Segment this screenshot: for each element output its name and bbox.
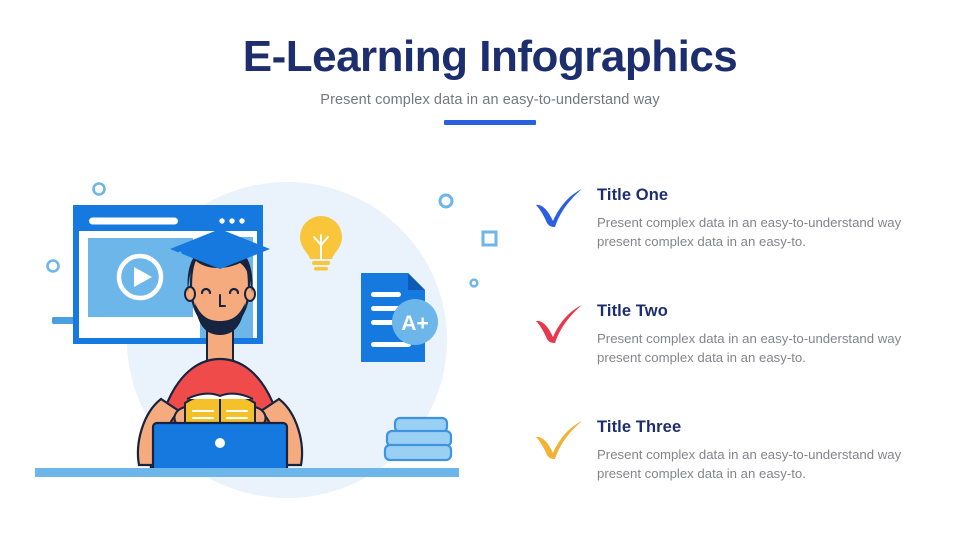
list-item[interactable]: Title Two Present complex data in an eas… [533,302,953,386]
list-item-title: Title Two [597,302,953,321]
desk-line [35,468,459,477]
list-item-description: Present complex data in an easy-to-under… [597,330,942,367]
decor-pill [52,317,74,324]
check-mark-icon [533,304,585,344]
list-item-title: Title Three [597,418,953,437]
list-item-description: Present complex data in an easy-to-under… [597,214,942,251]
list-item[interactable]: Title One Present complex data in an eas… [533,186,953,270]
list-item-description: Present complex data in an easy-to-under… [597,446,942,483]
page-subtitle: Present complex data in an easy-to-under… [0,92,980,108]
header: E-Learning Infographics Present complex … [0,34,980,125]
list-item[interactable]: Title Three Present complex data in an e… [533,418,953,502]
decor-dot-small [471,280,478,287]
window-dots-icon [219,218,244,223]
decor-ring-right [440,195,452,207]
page-title: E-Learning Infographics [0,34,980,80]
check-mark-icon [533,420,585,460]
accent-bar [444,120,536,125]
laptop-icon [153,423,287,471]
illustration: A+ [35,175,505,515]
list-item-title: Title One [597,186,953,205]
check-mark-icon [533,188,585,228]
decor-ring-top [94,184,105,195]
slide-canvas: E-Learning Infographics Present complex … [0,0,980,551]
book-stack-icon [385,418,451,460]
decor-ring-left [48,261,59,272]
decor-square [483,232,496,245]
feature-list: Title One Present complex data in an eas… [533,186,953,502]
svg-text:A+: A+ [401,312,428,335]
